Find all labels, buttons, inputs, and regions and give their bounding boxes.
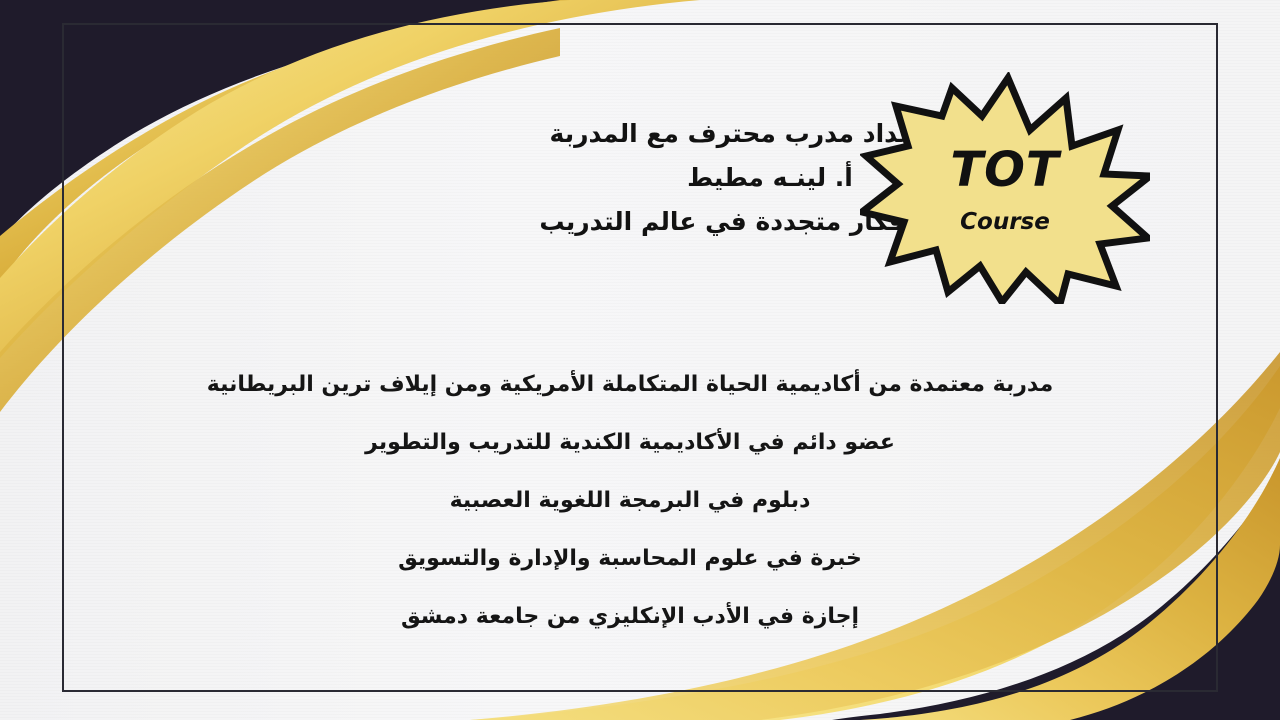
- credentials-list: مدربة معتمدة من أكاديمية الحياة المتكامل…: [100, 356, 1160, 646]
- credential-item: إجازة في الأدب الإنكليزي من جامعة دمشق: [100, 588, 1160, 646]
- credential-item: خبرة في علوم المحاسبة والإدارة والتسويق: [100, 530, 1160, 588]
- credential-item: عضو دائم في الأكاديمية الكندية للتدريب و…: [100, 414, 1160, 472]
- presentation-slide: دورة إعداد مدرب محترف مع المدربة أ. لينـ…: [0, 0, 1280, 720]
- badge-text-group: TOT Course: [860, 72, 1150, 304]
- tot-course-badge: TOT Course: [860, 72, 1150, 304]
- credential-item: مدربة معتمدة من أكاديمية الحياة المتكامل…: [100, 356, 1160, 414]
- badge-sub-label: Course: [960, 209, 1050, 235]
- credential-item: دبلوم في البرمجة اللغوية العصبية: [100, 472, 1160, 530]
- badge-main-label: TOT: [950, 145, 1059, 195]
